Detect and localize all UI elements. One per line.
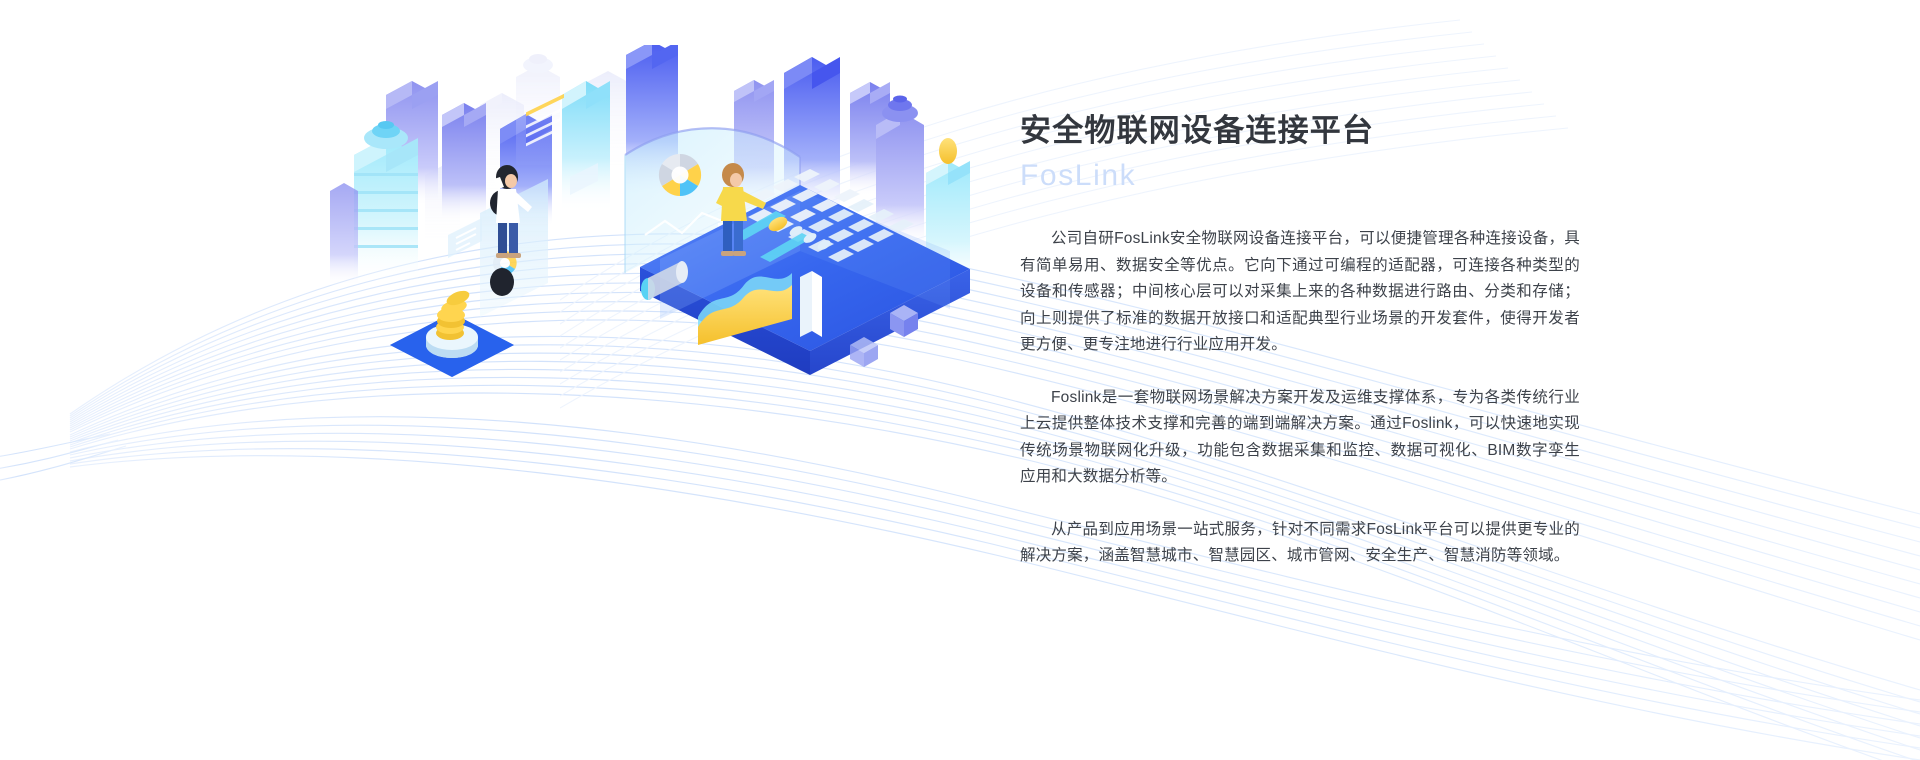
description-paragraphs: 公司自研FosLink安全物联网设备连接平台，可以便捷管理各种连接设备，具有简单… (1020, 226, 1580, 570)
paragraph-1: 公司自研FosLink安全物联网设备连接平台，可以便捷管理各种连接设备，具有简单… (1020, 226, 1580, 359)
coin-icon (939, 138, 957, 164)
isometric-iot-platform-illustration (330, 45, 970, 385)
paragraph-3: 从产品到应用场景一站式服务，针对不同需求FosLink平台可以提供更专业的解决方… (1020, 517, 1580, 570)
product-name: FosLink (1020, 156, 1580, 196)
hero-section: 安全物联网设备连接平台 FosLink 公司自研FosLink安全物联网设备连接… (0, 0, 1920, 760)
page-title: 安全物联网设备连接平台 (1020, 110, 1580, 152)
pagoda-tower (354, 121, 418, 280)
hero-text-column: 安全物联网设备连接平台 FosLink 公司自研FosLink安全物联网设备连接… (1020, 110, 1580, 570)
pie-chart-icon (659, 154, 701, 196)
paragraph-2: Foslink是一套物联网场景解决方案开发及运维支撑体系，专为各类传统行业上云提… (1020, 385, 1580, 491)
